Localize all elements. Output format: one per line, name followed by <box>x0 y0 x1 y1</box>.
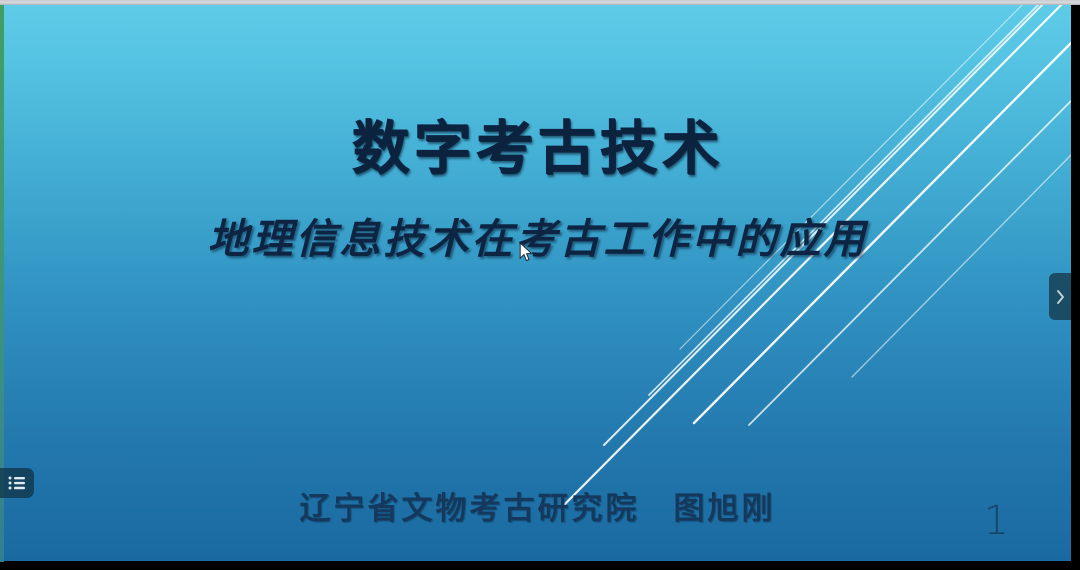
outline-toggle-button[interactable] <box>0 468 34 498</box>
presentation-viewer: 数字考古技术 地理信息技术在考古工作中的应用 辽宁省文物考古研究院 图旭刚 1 <box>0 0 1080 570</box>
slide-subtitle: 地理信息技术在考古工作中的应用 <box>4 217 1071 262</box>
bottom-letterbox-bar <box>0 561 1080 570</box>
next-slide-button[interactable] <box>1049 273 1071 320</box>
list-outline-icon <box>8 476 26 490</box>
slide-main-title: 数字考古技术 <box>4 117 1071 181</box>
right-letterbox-bar <box>1071 0 1080 570</box>
slide-canvas[interactable]: 数字考古技术 地理信息技术在考古工作中的应用 辽宁省文物考古研究院 图旭刚 1 <box>4 5 1071 561</box>
diagonal-streaks-decoration <box>4 5 1071 561</box>
slide-presenter-affiliation: 辽宁省文物考古研究院 图旭刚 <box>4 483 1071 528</box>
slide-number: 1 <box>984 501 1009 541</box>
chevron-right-icon <box>1055 289 1066 305</box>
window-top-bar <box>0 0 1080 5</box>
